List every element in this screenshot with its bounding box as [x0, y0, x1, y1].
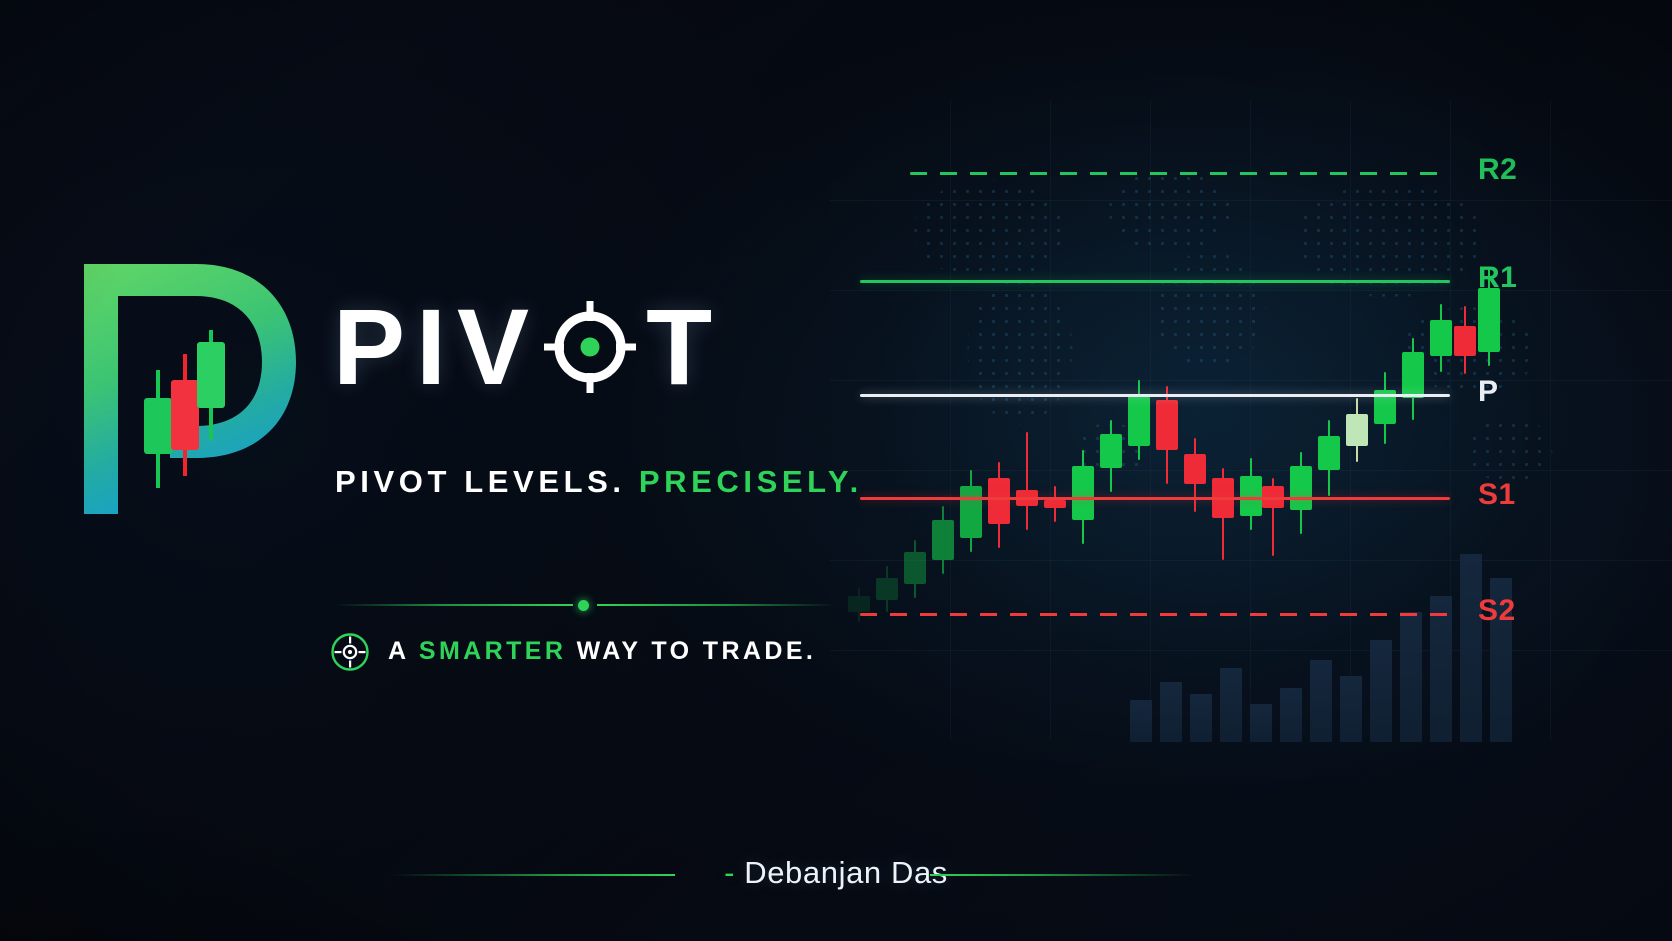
candle-body	[1240, 476, 1262, 516]
candle-body	[1100, 434, 1122, 468]
attribution-author: Debanjan Das	[744, 855, 948, 890]
divider-line-right	[597, 604, 835, 606]
footer-rule-right	[930, 874, 1195, 876]
candlestick	[1100, 420, 1122, 492]
wordmark-pivot: PIV T	[333, 293, 723, 401]
candlestick-series	[830, 0, 1672, 941]
attribution-dash: -	[724, 855, 735, 890]
divider-line-left	[335, 604, 573, 606]
pivot-label-s1: S1	[1478, 480, 1516, 510]
candlestick	[1044, 486, 1066, 522]
pivot-label-r2: R2	[1478, 155, 1517, 185]
pivot-label-r1: R1	[1478, 263, 1517, 293]
candle-body	[1346, 414, 1368, 446]
pivot-line-stroke	[860, 497, 1450, 500]
candle-body	[1430, 320, 1452, 356]
candle-body	[1402, 352, 1424, 398]
candle-body	[960, 486, 982, 538]
candle-body	[1044, 500, 1066, 508]
tagline-green-part: PRECISELY.	[639, 464, 863, 499]
crosshair-target-icon	[544, 301, 636, 393]
candlestick	[1346, 398, 1368, 462]
subline-rest-part: WAY TO TRADE.	[566, 637, 816, 665]
subline-green-part: SMARTER	[419, 637, 566, 665]
divider	[335, 599, 835, 611]
subline: A SMARTER WAY TO TRADE.	[388, 637, 816, 666]
candle-body	[1318, 436, 1340, 470]
candlestick	[1184, 438, 1206, 512]
candle-body	[1128, 396, 1150, 446]
candle-body	[904, 552, 926, 584]
candle-body	[1454, 326, 1476, 356]
candlestick	[1128, 380, 1150, 460]
pivot-label-s2: S2	[1478, 596, 1516, 626]
candlestick	[1318, 420, 1340, 496]
candlestick	[1212, 468, 1234, 560]
candle-body	[1478, 288, 1500, 352]
pivot-line-stroke	[860, 394, 1450, 397]
crosshair-circle-icon	[330, 632, 370, 672]
candle-wick	[1026, 432, 1028, 530]
candle-body	[1184, 454, 1206, 484]
poster-canvas: R2R1PS1S2	[0, 0, 1672, 941]
divider-dot	[578, 600, 589, 611]
wordmark-part-2: T	[646, 293, 723, 401]
candlestick	[1262, 478, 1284, 556]
candle-body	[1072, 466, 1094, 520]
candlestick	[988, 462, 1010, 548]
candlestick	[932, 506, 954, 574]
candlestick	[1290, 452, 1312, 534]
brand-block: PIV T PIVOT LEVELS. PRECISELY.	[0, 0, 900, 941]
wordmark-part-1: PIV	[333, 293, 540, 401]
candle-body	[1156, 400, 1178, 450]
tagline: PIVOT LEVELS. PRECISELY.	[335, 464, 863, 500]
candlestick	[1156, 386, 1178, 484]
pivot-line-stroke	[860, 613, 1450, 616]
pivot-line-stroke	[860, 280, 1450, 283]
candlestick	[1374, 372, 1396, 444]
pivot-p-logo-icon	[78, 258, 310, 520]
candle-body	[932, 520, 954, 560]
pivot-line-stroke	[910, 172, 1450, 175]
pivot-label-p: P	[1478, 377, 1499, 407]
tagline-white-part: PIVOT LEVELS.	[335, 464, 626, 499]
candlestick	[1402, 338, 1424, 420]
candlestick	[1240, 458, 1262, 530]
candlestick	[904, 540, 926, 598]
candlestick	[1430, 304, 1452, 372]
author-attribution: - Debanjan Das	[0, 855, 1672, 891]
footer: - Debanjan Das	[0, 855, 1672, 915]
candle-body	[988, 478, 1010, 524]
candlestick	[1016, 432, 1038, 530]
candlestick	[960, 470, 982, 552]
candlestick	[1454, 306, 1476, 374]
chart-panel: R2R1PS1S2	[830, 0, 1672, 941]
candle-body	[1290, 466, 1312, 510]
subline-part-a: A	[388, 637, 419, 665]
